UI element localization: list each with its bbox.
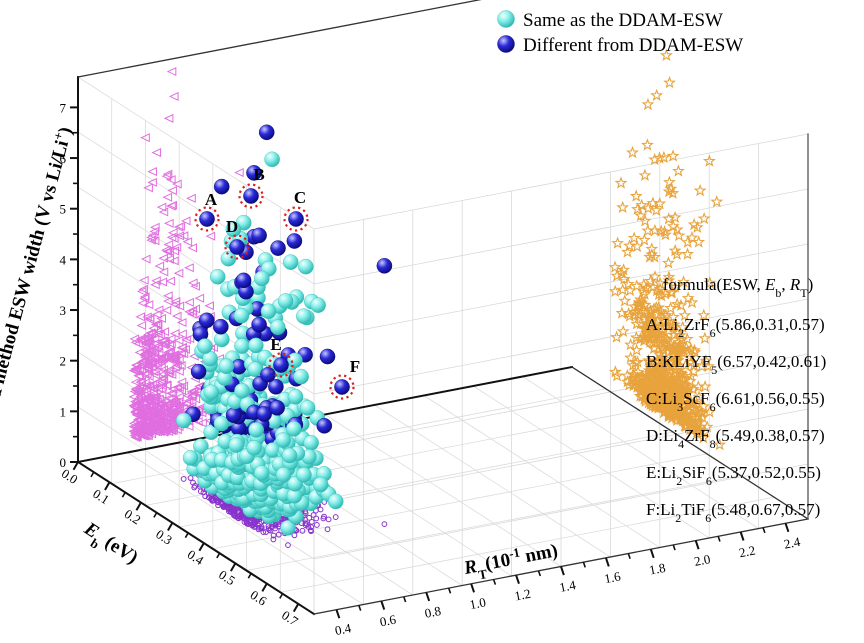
legend: Same as the DDAM-ESWDifferent from DDAM-… <box>498 10 744 56</box>
svg-text:1.2: 1.2 <box>513 586 532 604</box>
legend-label-1: Different from DDAM-ESW <box>523 35 743 56</box>
svg-text:0.1: 0.1 <box>90 486 112 507</box>
svg-text:5: 5 <box>60 202 67 217</box>
svg-text:1: 1 <box>60 404 67 419</box>
svg-text:3: 3 <box>60 303 67 318</box>
highlight-label-c: C <box>294 188 306 207</box>
z-axis-title: RT(10-1 nm) <box>461 537 561 585</box>
svg-text:0.4: 0.4 <box>185 547 207 569</box>
svg-text:RT(10-1 nm): RT(10-1 nm) <box>461 537 561 585</box>
highlight-label-f: F <box>350 357 360 376</box>
svg-text:1.4: 1.4 <box>558 577 577 595</box>
svg-text:2: 2 <box>60 354 67 369</box>
axis-frame <box>78 0 808 614</box>
figure-canvas: 012345670.00.10.20.30.40.50.60.70.40.60.… <box>0 0 864 643</box>
svg-text:Combined method ESW width (V v: Combined method ESW width (V vs Li/Li+) <box>0 124 77 472</box>
svg-text:1.6: 1.6 <box>603 568 622 586</box>
svg-text:0.7: 0.7 <box>279 607 301 629</box>
svg-text:0.8: 0.8 <box>423 603 442 621</box>
svg-text:2.0: 2.0 <box>693 551 712 569</box>
svg-text:1.8: 1.8 <box>648 560 667 578</box>
highlight-label-b: B <box>253 165 264 184</box>
svg-text:0.5: 0.5 <box>216 567 238 588</box>
x-axis-title: Eb (eV) <box>76 518 141 573</box>
highlight-label-d: D <box>226 217 238 236</box>
svg-text:0.2: 0.2 <box>122 506 144 527</box>
svg-text:2.2: 2.2 <box>738 543 757 561</box>
svg-text:0.3: 0.3 <box>153 526 175 547</box>
highlight-label-a: A <box>205 190 218 209</box>
y-axis-title: Combined method ESW width (V vs Li/Li+) <box>0 124 77 472</box>
formula-entry-e: E:Li2SiF6(5.37,0.52,0.55) <box>646 463 821 488</box>
highlight-label-e: E <box>270 335 281 354</box>
legend-marker-1[interactable] <box>498 36 515 53</box>
svg-text:0.4: 0.4 <box>334 620 353 638</box>
formula-entry-d: D:Li4ZrF8(5.49,0.38,0.57) <box>646 426 825 451</box>
legend-label-0: Same as the DDAM-ESW <box>523 10 723 31</box>
svg-text:4: 4 <box>60 252 67 267</box>
legend-marker-0[interactable] <box>498 11 515 28</box>
svg-text:0.6: 0.6 <box>378 612 397 630</box>
svg-text:Eb (eV): Eb (eV) <box>76 518 141 573</box>
svg-text:2.4: 2.4 <box>783 534 802 552</box>
svg-text:1.0: 1.0 <box>468 594 487 612</box>
svg-text:0.6: 0.6 <box>248 587 270 609</box>
formula-entry-a: A:Li2ZrF6(5.86,0.31,0.57) <box>646 315 825 340</box>
svg-text:7: 7 <box>60 100 67 115</box>
scatter-plot-3d: 012345670.00.10.20.30.40.50.60.70.40.60.… <box>0 0 864 643</box>
